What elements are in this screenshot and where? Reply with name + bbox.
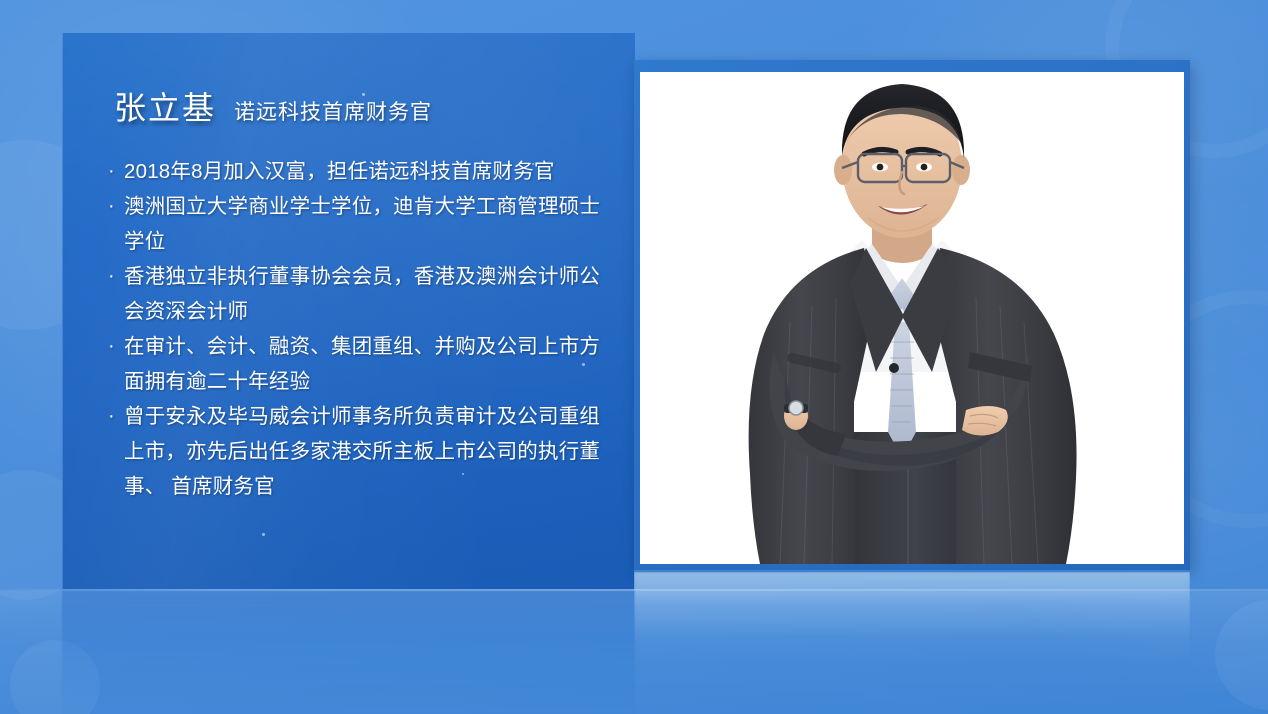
bio-list-item: · 2018年8月加入汉富，担任诺远科技首席财务官 bbox=[108, 154, 608, 189]
bio-text: 香港独立非执行董事协会会员，香港及澳洲会计师公会资深会计师 bbox=[124, 259, 608, 329]
headline: 张立基 诺远科技首席财务官 bbox=[114, 83, 432, 129]
person-name: 张立基 bbox=[114, 83, 216, 129]
bio-text: 曾于安永及毕马威会计师事务所负责审计及公司重组上市，亦先后出任多家港交所主板上市… bbox=[124, 399, 608, 504]
bio-list: · 2018年8月加入汉富，担任诺远科技首席财务官 · 澳洲国立大学商业学士学位… bbox=[108, 154, 608, 504]
bio-text: 2018年8月加入汉富，担任诺远科技首席财务官 bbox=[124, 154, 608, 189]
person-title: 诺远科技首席财务官 bbox=[234, 96, 432, 126]
bio-list-item: · 香港独立非执行董事协会会员，香港及澳洲会计师公会资深会计师 bbox=[108, 259, 608, 329]
bullet-icon: · bbox=[108, 399, 124, 434]
portrait-photo bbox=[640, 72, 1184, 564]
slide-root: 张立基 诺远科技首席财务官 · 2018年8月加入汉富，担任诺远科技首席财务官 … bbox=[0, 0, 1268, 714]
bio-list-item: · 澳洲国立大学商业学士学位，迪肯大学工商管理硕士学位 bbox=[108, 189, 608, 259]
portrait-frame bbox=[634, 60, 1190, 570]
bio-list-item: · 在审计、会计、融资、集团重组、并购及公司上市方面拥有逾二十年经验 bbox=[108, 329, 608, 399]
bullet-icon: · bbox=[108, 259, 124, 294]
bio-text: 澳洲国立大学商业学士学位，迪肯大学工商管理硕士学位 bbox=[124, 189, 608, 259]
bio-list-item: · 曾于安永及毕马威会计师事务所负责审计及公司重组上市，亦先后出任多家港交所主板… bbox=[108, 399, 608, 504]
bullet-icon: · bbox=[108, 154, 124, 189]
sparkle-speck bbox=[262, 533, 265, 536]
portrait-illustration bbox=[640, 72, 1184, 564]
bullet-icon: · bbox=[108, 329, 124, 364]
bullet-icon: · bbox=[108, 189, 124, 224]
bio-text: 在审计、会计、融资、集团重组、并购及公司上市方面拥有逾二十年经验 bbox=[124, 329, 608, 399]
